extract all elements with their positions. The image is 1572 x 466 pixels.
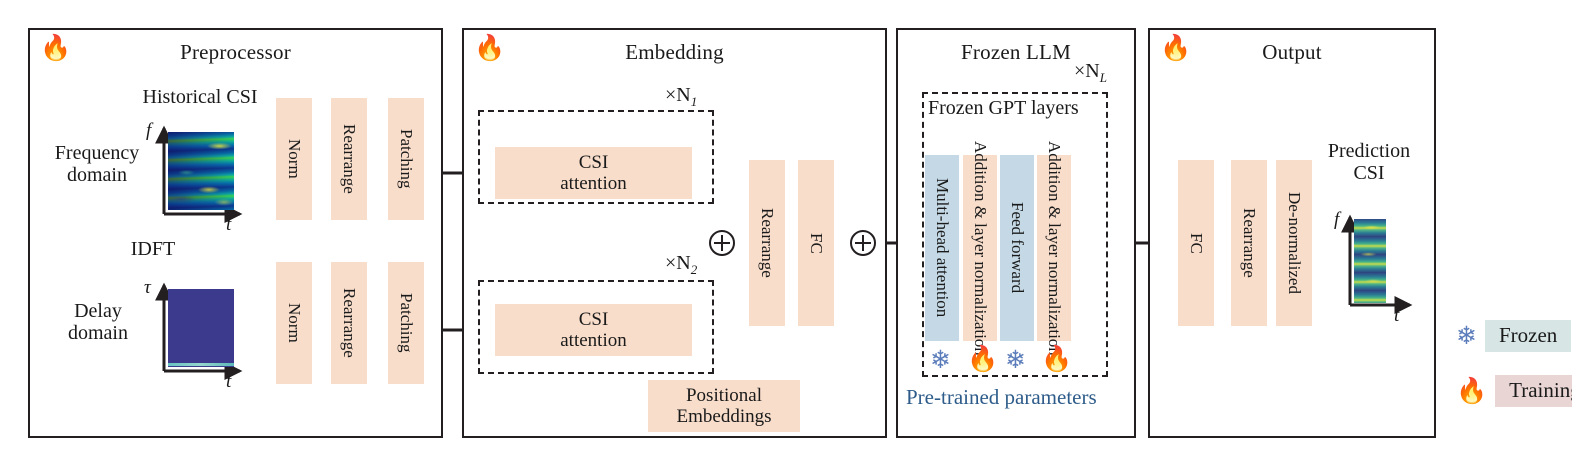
adder-node-1 bbox=[709, 230, 735, 256]
legend-label-frozen: Frozen bbox=[1485, 320, 1571, 352]
adder-node-2 bbox=[850, 230, 876, 256]
block-norm-delay: Norm bbox=[276, 262, 312, 384]
block-addition-layer-norm-2: Addition & layer normalization bbox=[1037, 155, 1071, 341]
flame-icon: 🔥 bbox=[967, 347, 998, 372]
flame-icon: 🔥 bbox=[474, 36, 505, 61]
snowflake-icon: ❄ bbox=[1456, 324, 1477, 349]
block-fc-output: FC bbox=[1178, 160, 1214, 326]
axis-label-f-output: f bbox=[1334, 209, 1339, 231]
block-patching-delay: Patching bbox=[388, 262, 424, 384]
block-norm-freq: Norm bbox=[276, 98, 312, 220]
block-multi-head-attention: Multi-head attention bbox=[925, 155, 959, 341]
block-csi-attention-bottom: CSI attention bbox=[495, 304, 692, 356]
idft-label: IDFT bbox=[118, 238, 188, 260]
legend: ❄ Frozen 🔥 Training bbox=[1456, 320, 1572, 430]
axis-label-t-delay: t bbox=[226, 371, 231, 393]
delay-heatmap bbox=[168, 289, 234, 367]
delay-domain-label: Delay domain bbox=[48, 300, 148, 345]
repeat-label-n1: ×N1 bbox=[665, 84, 697, 110]
frequency-heatmap bbox=[168, 132, 234, 210]
axis-label-tau-input: τ bbox=[144, 277, 151, 299]
block-positional-embeddings: Positional Embeddings bbox=[648, 380, 800, 432]
historical-csi-caption: Historical CSI bbox=[118, 86, 282, 108]
block-rearrange-output: Rearrange bbox=[1231, 160, 1267, 326]
block-fc-embedding: FC bbox=[798, 160, 834, 326]
block-patching-freq: Patching bbox=[388, 98, 424, 220]
frequency-domain-label: Frequency domain bbox=[42, 142, 152, 187]
prediction-csi-plot: f t bbox=[1336, 203, 1432, 313]
pre-trained-parameters-label: Pre-trained parameters bbox=[906, 385, 1097, 410]
figure-canvas: Preprocessor 🔥 Historical CSI Frequency … bbox=[0, 0, 1572, 466]
block-addition-layer-norm-1: Addition & layer normalization bbox=[963, 155, 997, 341]
frozen-gpt-layers-title: Frozen GPT layers bbox=[928, 97, 1079, 120]
repeat-label-nl: ×NL bbox=[1074, 60, 1107, 86]
flame-icon: 🔥 bbox=[1041, 347, 1072, 372]
legend-label-training: Training bbox=[1495, 375, 1572, 407]
axis-label-t-output: t bbox=[1394, 305, 1399, 327]
panel-title-preprocessor: Preprocessor bbox=[30, 40, 441, 65]
repeat-label-n2: ×N2 bbox=[665, 252, 697, 278]
panel-title-embedding: Embedding bbox=[464, 40, 885, 65]
delay-domain-plot: τ t bbox=[152, 275, 248, 379]
prediction-csi-caption: Prediction CSI bbox=[1306, 140, 1432, 185]
flame-icon: 🔥 bbox=[1456, 379, 1487, 404]
legend-row-frozen: ❄ Frozen bbox=[1456, 320, 1571, 352]
legend-row-training: 🔥 Training bbox=[1456, 375, 1572, 407]
axis-label-f-input: f bbox=[146, 120, 151, 142]
prediction-heatmap bbox=[1354, 219, 1386, 303]
axis-label-t-input: t bbox=[226, 214, 231, 236]
snowflake-icon: ❄ bbox=[1005, 348, 1026, 373]
block-rearrange-embedding: Rearrange bbox=[749, 160, 785, 326]
flame-icon: 🔥 bbox=[40, 36, 71, 61]
block-csi-attention-top: CSI attention bbox=[495, 147, 692, 199]
block-rearrange-freq: Rearrange bbox=[331, 98, 367, 220]
block-de-normalized: De-normalized bbox=[1276, 160, 1312, 326]
flame-icon: 🔥 bbox=[1160, 36, 1191, 61]
block-rearrange-delay: Rearrange bbox=[331, 262, 367, 384]
panel-title-output: Output bbox=[1150, 40, 1434, 65]
frequency-domain-plot: f t bbox=[152, 118, 248, 222]
block-feed-forward: Feed forward bbox=[1000, 155, 1034, 341]
snowflake-icon: ❄ bbox=[930, 348, 951, 373]
